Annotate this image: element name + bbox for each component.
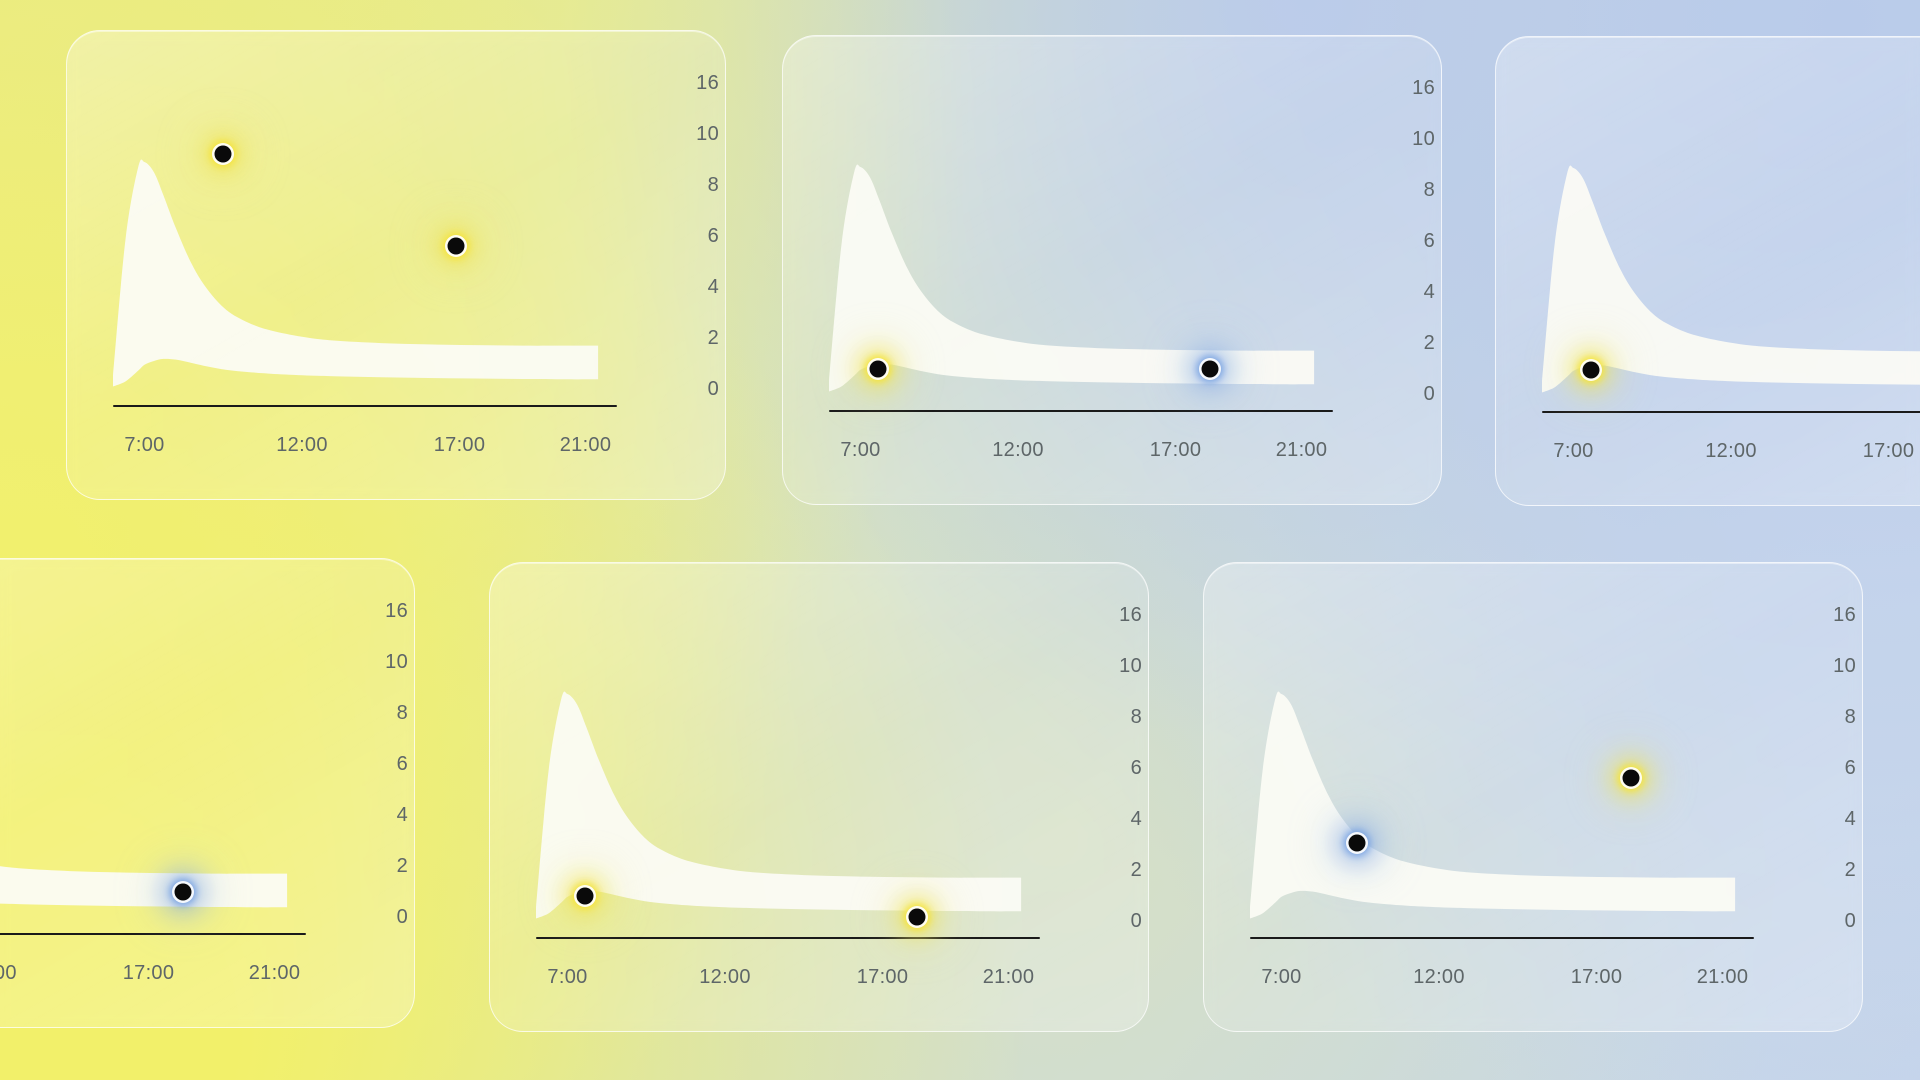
x-axis: 7:0012:0017:0021:00 xyxy=(783,440,1443,464)
x-axis: 7:0012:0017:00 xyxy=(1496,441,1920,465)
x-axis-tick-label: 17:00 xyxy=(857,967,909,987)
y-axis-tick-label: 8 xyxy=(1845,707,1856,727)
x-axis-tick-label: 17:00 xyxy=(1863,441,1915,461)
y-axis-tick-label: 6 xyxy=(1424,231,1435,251)
x-axis-tick-label: 7:00 xyxy=(547,967,587,987)
x-axis-tick-label: 7:00 xyxy=(840,440,880,460)
x-axis-line xyxy=(1250,937,1754,939)
y-axis-tick-label: 16 xyxy=(1119,605,1142,625)
x-axis-tick-label: 17:00 xyxy=(1571,967,1623,987)
y-axis-tick-label: 8 xyxy=(1131,707,1142,727)
x-axis-tick-label: 21:00 xyxy=(1697,967,1749,987)
y-axis-tick-label: 10 xyxy=(696,124,719,144)
y-axis-tick-label: 6 xyxy=(1845,758,1856,778)
x-axis-tick-label: 12:00 xyxy=(1413,967,1465,987)
data-point-marker-yellow[interactable] xyxy=(1623,770,1640,787)
distribution-band xyxy=(0,687,287,914)
chart-card[interactable]: 1610864207:0012:0017:0021:00 xyxy=(782,35,1442,505)
chart-card[interactable]: 7:0012:0017:00 xyxy=(1495,36,1920,506)
y-axis-tick-label: 16 xyxy=(1833,605,1856,625)
x-axis-tick-label: 7:00 xyxy=(124,435,164,455)
x-axis-line xyxy=(1542,411,1920,413)
y-axis: 161086420 xyxy=(1096,563,1142,1033)
y-axis-tick-label: 0 xyxy=(1131,911,1142,931)
data-point-marker-yellow[interactable] xyxy=(576,887,593,904)
x-axis-line xyxy=(536,937,1040,939)
y-axis-tick-label: 16 xyxy=(696,73,719,93)
y-axis-tick-label: 8 xyxy=(1424,180,1435,200)
x-axis-tick-label: 12:00 xyxy=(699,967,751,987)
distribution-band xyxy=(829,164,1314,391)
y-axis-tick-label: 6 xyxy=(1131,758,1142,778)
y-axis-tick-label: 2 xyxy=(1424,333,1435,353)
y-axis-tick-label: 6 xyxy=(397,754,408,774)
x-axis-line xyxy=(829,410,1333,412)
y-axis: 161086420 xyxy=(1810,563,1856,1033)
area-chart-svg xyxy=(1204,563,1864,1033)
distribution-band xyxy=(536,691,1021,918)
area-chart-svg xyxy=(1496,37,1920,507)
chart-card[interactable]: 1610864207:0012:0017:0021:00 xyxy=(1203,562,1863,1032)
x-axis: 7:0012:0017:0021:00 xyxy=(1204,967,1864,991)
distribution-band xyxy=(1250,691,1735,918)
data-point-marker-yellow[interactable] xyxy=(1582,361,1599,378)
chart-card[interactable]: 16108642012:0017:0021:00 xyxy=(0,558,415,1028)
x-axis-tick-label: 21:00 xyxy=(1276,440,1328,460)
y-axis-tick-label: 10 xyxy=(1119,656,1142,676)
y-axis: 161086420 xyxy=(362,559,408,1029)
plot-area: 1610864207:0012:0017:0021:00 xyxy=(490,563,1148,1031)
y-axis-tick-label: 2 xyxy=(1845,860,1856,880)
x-axis-tick-label: 17:00 xyxy=(123,963,175,983)
x-axis-tick-label: 12:00 xyxy=(0,963,17,983)
data-point-marker-blue[interactable] xyxy=(1349,835,1366,852)
y-axis-tick-label: 10 xyxy=(1412,129,1435,149)
plot-area: 1610864207:0012:0017:0021:00 xyxy=(783,36,1441,504)
y-axis-tick-label: 0 xyxy=(1845,911,1856,931)
y-axis-tick-label: 4 xyxy=(708,277,719,297)
x-axis-tick-label: 17:00 xyxy=(434,435,486,455)
y-axis-tick-label: 0 xyxy=(397,907,408,927)
x-axis-tick-label: 7:00 xyxy=(1261,967,1301,987)
y-axis-tick-label: 0 xyxy=(708,379,719,399)
distribution-band xyxy=(1542,165,1920,392)
area-chart-svg xyxy=(0,559,416,1029)
data-point-marker-yellow[interactable] xyxy=(215,146,232,163)
y-axis-tick-label: 16 xyxy=(1412,78,1435,98)
chart-card[interactable]: 1610864207:0012:0017:0021:00 xyxy=(66,30,726,500)
y-axis-tick-label: 16 xyxy=(385,601,408,621)
y-axis-tick-label: 0 xyxy=(1424,384,1435,404)
y-axis-tick-label: 2 xyxy=(397,856,408,876)
area-chart-svg xyxy=(783,36,1443,506)
x-axis-tick-label: 12:00 xyxy=(992,440,1044,460)
y-axis: 161086420 xyxy=(1389,36,1435,506)
area-chart-svg xyxy=(490,563,1150,1033)
data-point-marker-yellow[interactable] xyxy=(869,360,886,377)
x-axis-tick-label: 17:00 xyxy=(1150,440,1202,460)
x-axis: 7:0012:0017:0021:00 xyxy=(490,967,1150,991)
x-axis-tick-label: 12:00 xyxy=(1705,441,1757,461)
data-point-marker-yellow[interactable] xyxy=(909,909,926,926)
plot-area: 7:0012:0017:00 xyxy=(1496,37,1920,505)
plot-area: 16108642012:0017:0021:00 xyxy=(0,559,414,1027)
y-axis-tick-label: 2 xyxy=(1131,860,1142,880)
data-point-marker-blue[interactable] xyxy=(1202,360,1219,377)
y-axis: 161086420 xyxy=(673,31,719,501)
y-axis-tick-label: 4 xyxy=(1845,809,1856,829)
x-axis-tick-label: 21:00 xyxy=(560,435,612,455)
chart-card[interactable]: 1610864207:0012:0017:0021:00 xyxy=(489,562,1149,1032)
y-axis-tick-label: 10 xyxy=(1833,656,1856,676)
x-axis-line xyxy=(0,933,306,935)
distribution-band xyxy=(113,159,598,386)
x-axis-tick-label: 21:00 xyxy=(249,963,301,983)
x-axis: 12:0017:0021:00 xyxy=(0,963,416,987)
x-axis-line xyxy=(113,405,617,407)
y-axis-tick-label: 8 xyxy=(708,175,719,195)
x-axis-tick-label: 21:00 xyxy=(983,967,1035,987)
x-axis-tick-label: 12:00 xyxy=(276,435,328,455)
plot-area: 1610864207:0012:0017:0021:00 xyxy=(1204,563,1862,1031)
plot-area: 1610864207:0012:0017:0021:00 xyxy=(67,31,725,499)
y-axis-tick-label: 4 xyxy=(1131,809,1142,829)
y-axis-tick-label: 8 xyxy=(397,703,408,723)
y-axis-tick-label: 10 xyxy=(385,652,408,672)
data-point-marker-blue[interactable] xyxy=(175,883,192,900)
x-axis-tick-label: 7:00 xyxy=(1553,441,1593,461)
y-axis-tick-label: 4 xyxy=(397,805,408,825)
y-axis-tick-label: 2 xyxy=(708,328,719,348)
area-chart-svg xyxy=(67,31,727,501)
data-point-marker-yellow[interactable] xyxy=(448,238,465,255)
x-axis: 7:0012:0017:0021:00 xyxy=(67,435,727,459)
y-axis-tick-label: 4 xyxy=(1424,282,1435,302)
y-axis-tick-label: 6 xyxy=(708,226,719,246)
dashboard-canvas: 1610864207:0012:0017:0021:001610864207:0… xyxy=(0,0,1920,1080)
